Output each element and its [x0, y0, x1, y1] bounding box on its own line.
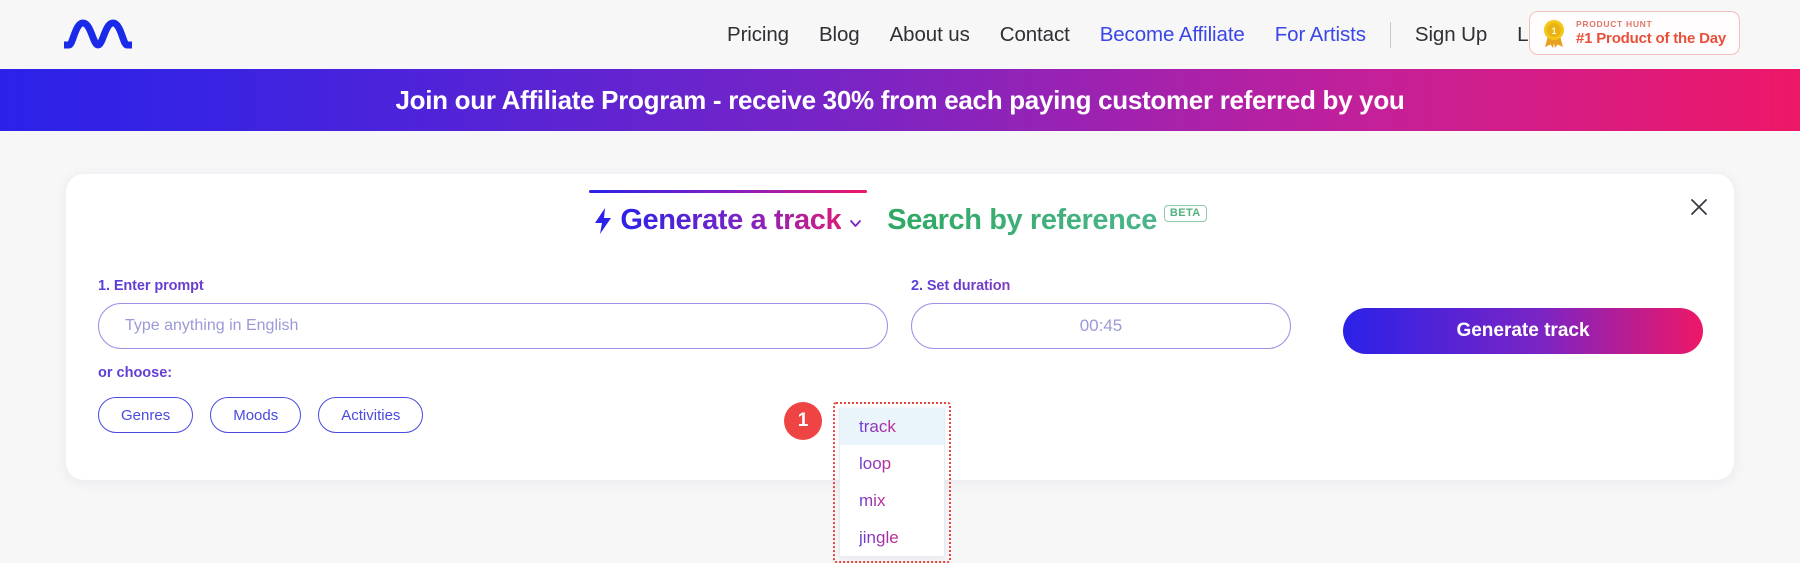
generate-track-button[interactable]: Generate track: [1343, 308, 1703, 354]
duration-block: 2. Set duration 00:45: [911, 278, 1291, 349]
prompt-block: 1. Enter prompt or choose: Genres Moods …: [98, 278, 888, 433]
tab-generate-a-track[interactable]: Generate a track: [589, 190, 867, 243]
tab-search-label: Search by reference: [887, 204, 1157, 237]
nav-item-pricing[interactable]: Pricing: [712, 23, 804, 47]
track-type-dropdown-wrap: 1 track loop mix jingle: [833, 402, 951, 563]
prompt-label: 1. Enter prompt: [98, 278, 888, 294]
chevron-down-icon[interactable]: [848, 216, 863, 231]
dropdown-item-jingle[interactable]: jingle: [840, 519, 944, 556]
wave-logo-icon[interactable]: [60, 14, 152, 54]
or-choose-label: or choose:: [98, 365, 888, 381]
site-header: Pricing Blog About us Contact Become Aff…: [0, 0, 1800, 69]
tab-generate-label: Generate a track: [620, 204, 841, 237]
track-type-dropdown: track loop mix jingle: [839, 408, 945, 557]
product-hunt-kicker: PRODUCT HUNT: [1576, 20, 1726, 29]
duration-input[interactable]: 00:45: [911, 303, 1291, 349]
duration-label: 2. Set duration: [911, 278, 1291, 294]
product-hunt-title: #1 Product of the Day: [1576, 31, 1726, 46]
generator-card: Generate a track Search by reference BET…: [66, 174, 1734, 480]
svg-text:1: 1: [1551, 26, 1556, 36]
nav-item-blog[interactable]: Blog: [804, 23, 875, 47]
step-badge-1: 1: [784, 402, 822, 440]
dropdown-item-label: jingle: [859, 528, 899, 548]
product-hunt-badge[interactable]: 1 PRODUCT HUNT #1 Product of the Day: [1529, 11, 1740, 55]
chip-genres[interactable]: Genres: [98, 397, 193, 433]
beta-badge: BETA: [1164, 205, 1207, 222]
dropdown-item-label: loop: [859, 454, 891, 474]
lightning-bolt-icon: [593, 208, 613, 234]
tab-search-by-reference[interactable]: Search by reference BETA: [883, 190, 1210, 243]
annotation-highlight-box: track loop mix jingle: [833, 402, 951, 563]
affiliate-banner-text: Join our Affiliate Program - receive 30%…: [396, 85, 1405, 116]
dropdown-item-track[interactable]: track: [840, 408, 944, 445]
dropdown-item-label: track: [859, 417, 896, 437]
dropdown-item-mix[interactable]: mix: [840, 482, 944, 519]
nav-item-for-artists[interactable]: For Artists: [1260, 23, 1381, 47]
category-chips: Genres Moods Activities: [98, 397, 888, 433]
chip-activities[interactable]: Activities: [318, 397, 423, 433]
nav-item-sign-up[interactable]: Sign Up: [1400, 23, 1502, 47]
prompt-input[interactable]: [98, 303, 888, 349]
affiliate-banner[interactable]: Join our Affiliate Program - receive 30%…: [0, 69, 1800, 131]
nav-item-contact[interactable]: Contact: [985, 23, 1085, 47]
medal-icon: 1: [1541, 19, 1567, 48]
chip-moods[interactable]: Moods: [210, 397, 301, 433]
mode-tabs: Generate a track Search by reference BET…: [66, 174, 1734, 243]
nav-divider: [1390, 22, 1391, 48]
dropdown-item-loop[interactable]: loop: [840, 445, 944, 482]
nav-item-about-us[interactable]: About us: [875, 23, 985, 47]
dropdown-item-label: mix: [859, 491, 885, 511]
nav-item-become-affiliate[interactable]: Become Affiliate: [1085, 23, 1260, 47]
main-navigation: Pricing Blog About us Contact Become Aff…: [712, 0, 1589, 69]
